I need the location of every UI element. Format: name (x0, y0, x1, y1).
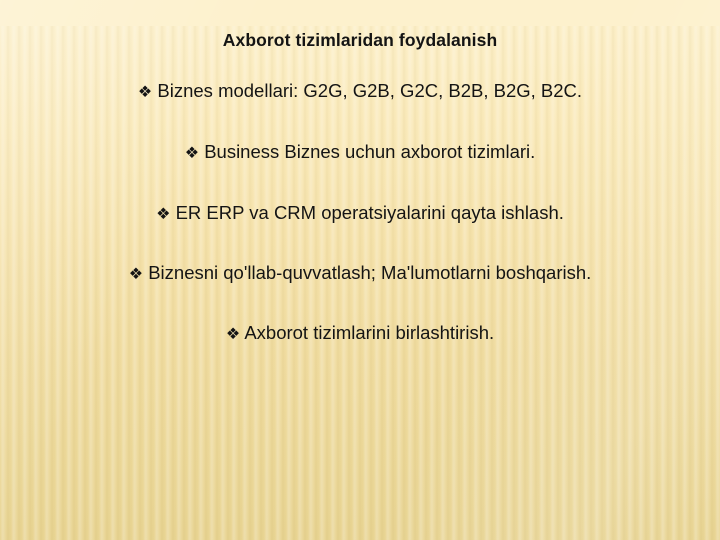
bullet-text: Biznesni qo'llab-quvvatlash; Ma'lumotlar… (148, 262, 591, 283)
floret-bullet-icon: ❖ (226, 326, 240, 343)
bullet-item: ❖ Biznesni qo'llab-quvvatlash; Ma'lumotl… (118, 260, 602, 288)
bullet-list: ❖ Biznes modellari: G2G, G2B, G2C, B2B, … (118, 78, 602, 348)
bullet-text: Axborot tizimlarini birlashtirish. (244, 322, 494, 343)
bullet-item: ❖ Business Biznes uchun axborot tizimlar… (118, 139, 602, 167)
bullet-text: Biznes modellari: G2G, G2B, G2C, B2B, B2… (157, 80, 582, 101)
bullet-item: ❖ Biznes modellari: G2G, G2B, G2C, B2B, … (118, 78, 602, 106)
presentation-slide: Axborot tizimlaridan foydalanish ❖ Bizne… (0, 0, 720, 540)
bullet-text: ER ERP va CRM operatsiyalarini qayta ish… (176, 202, 564, 223)
slide-title: Axborot tizimlaridan foydalanish (0, 29, 720, 51)
floret-bullet-icon: ❖ (156, 206, 170, 223)
floret-bullet-icon: ❖ (138, 84, 152, 101)
floret-bullet-icon: ❖ (129, 266, 143, 283)
bullet-item: ❖ Axborot tizimlarini birlashtirish. (118, 320, 602, 348)
floret-bullet-icon: ❖ (185, 145, 199, 162)
slide-content: Axborot tizimlaridan foydalanish ❖ Bizne… (0, 0, 720, 540)
bullet-text: Business Biznes uchun axborot tizimlari. (204, 141, 535, 162)
bullet-item: ❖ ER ERP va CRM operatsiyalarini qayta i… (118, 200, 602, 228)
